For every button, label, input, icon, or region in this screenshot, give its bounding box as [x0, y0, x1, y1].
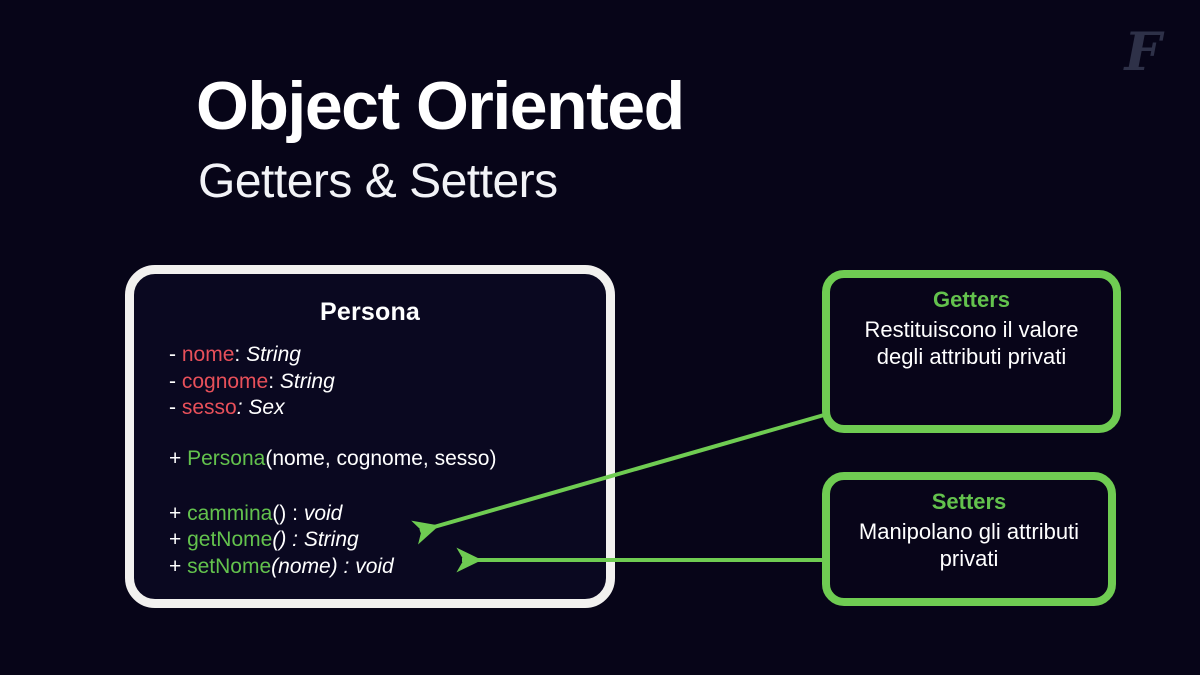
- uml-attributes-compartment: - nome: String - cognome: String - sesso…: [169, 342, 589, 422]
- callout-setters-body: Manipolano gli attributi privati: [844, 518, 1094, 572]
- operation-return-type: void: [304, 502, 343, 525]
- uml-attribute-row: - cognome: String: [169, 369, 589, 396]
- attribute-type: String: [246, 343, 301, 366]
- uml-class-name: Persona: [134, 298, 606, 327]
- operation-separator: :: [286, 528, 304, 551]
- uml-operation-row: + setNome(nome) : void: [169, 554, 599, 581]
- visibility-marker: -: [169, 343, 176, 366]
- visibility-marker: +: [169, 447, 181, 470]
- uml-class-card: Persona - nome: String - cognome: String…: [125, 265, 615, 608]
- attribute-separator: :: [237, 396, 243, 419]
- operation-name: cammina: [187, 502, 272, 525]
- visibility-marker: -: [169, 370, 176, 393]
- page-title: Object Oriented: [196, 72, 684, 140]
- attribute-name: sesso: [182, 396, 237, 419]
- operation-params: (): [272, 528, 286, 551]
- operation-return-type: void: [355, 555, 394, 578]
- attribute-name: cognome: [182, 370, 268, 393]
- visibility-marker: +: [169, 528, 181, 551]
- operation-name: setNome: [187, 555, 271, 578]
- attribute-name: nome: [182, 343, 235, 366]
- uml-attribute-row: - nome: String: [169, 342, 589, 369]
- attribute-separator: :: [268, 370, 274, 393]
- uml-operation-row: + cammina() : void: [169, 501, 599, 528]
- callout-setters: Setters Manipolano gli attributi privati: [822, 472, 1116, 606]
- operation-name: getNome: [187, 528, 272, 551]
- uml-operations-compartment: + Persona(nome, cognome, sesso) + cammin…: [169, 446, 599, 580]
- callout-getters-body: Restituiscono il valore degli attributi …: [844, 316, 1099, 370]
- visibility-marker: +: [169, 555, 181, 578]
- visibility-marker: -: [169, 396, 176, 419]
- operation-return-type: String: [304, 528, 359, 551]
- uml-constructor-row: + Persona(nome, cognome, sesso): [169, 446, 599, 473]
- uml-attribute-row: - sesso: Sex: [169, 395, 589, 422]
- callout-setters-title: Setters: [844, 488, 1094, 516]
- operation-separator: :: [286, 502, 304, 525]
- visibility-marker: +: [169, 502, 181, 525]
- constructor-name: Persona: [187, 447, 265, 470]
- slide-canvas: F Object Oriented Getters & Setters Pers…: [0, 0, 1200, 675]
- constructor-params: (nome, cognome, sesso): [265, 447, 496, 470]
- attribute-type: Sex: [248, 396, 284, 419]
- operation-separator: :: [338, 555, 356, 578]
- uml-operation-row: + getNome() : String: [169, 527, 599, 554]
- callout-getters: Getters Restituiscono il valore degli at…: [822, 270, 1121, 433]
- operation-params: (): [272, 502, 286, 525]
- attribute-type: String: [280, 370, 335, 393]
- attribute-separator: :: [234, 343, 240, 366]
- script-f-logo-icon: F: [1112, 22, 1174, 84]
- callout-getters-title: Getters: [844, 286, 1099, 314]
- page-subtitle: Getters & Setters: [198, 158, 558, 206]
- operation-params: (nome): [271, 555, 338, 578]
